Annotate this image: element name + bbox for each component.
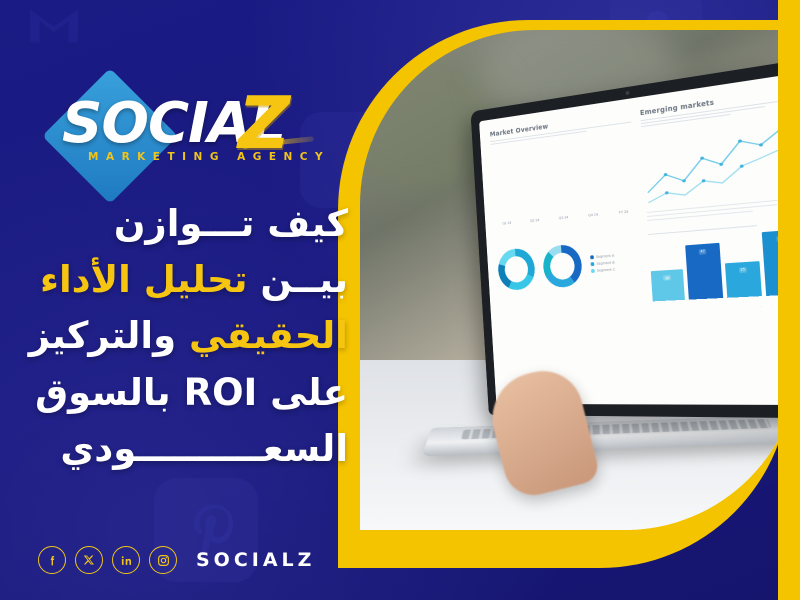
laptop-device: Market Overview Q1 24 Q2 24 Q3 xyxy=(456,86,800,416)
laptop-photo: Market Overview Q1 24 Q2 24 Q3 xyxy=(360,30,800,530)
instagram-icon[interactable] xyxy=(149,546,177,574)
line-chart-emerging-markets xyxy=(641,113,796,207)
headline-line-2: بيــن تحليل الأداء xyxy=(30,252,348,308)
bar-label: Q4 24 xyxy=(580,212,606,220)
headline-text: والتركيز xyxy=(29,314,189,357)
donut-legend: Segment A Segment B Segment C xyxy=(590,254,615,273)
linkedin-icon[interactable] xyxy=(112,546,140,574)
logo-wordmark: SOCIAL xyxy=(62,93,362,155)
headline-text: بيــن xyxy=(248,258,348,301)
footer-brand-name: SOCIALZ xyxy=(196,549,315,571)
legend-label: Segment C xyxy=(597,267,615,272)
donut-chart-1 xyxy=(497,247,536,291)
x-twitter-icon[interactable] xyxy=(75,546,103,574)
headline-line-1: كيف تـــوازن xyxy=(30,196,348,252)
right-yellow-edge xyxy=(778,0,800,600)
headline-line-3: الحقيقي والتركيز xyxy=(30,308,348,364)
headline-line-4: على ROI بالسوق xyxy=(30,365,348,421)
footer-social-bar: SOCIALZ xyxy=(38,546,315,574)
headline-text: على ROI بالسوق xyxy=(35,371,348,414)
bar-tag: 25 xyxy=(739,267,747,273)
marketing-poster: SOCIAL Z MARKETING AGENCY Market Overvie… xyxy=(0,0,800,600)
facebook-icon[interactable] xyxy=(38,546,66,574)
analytics-dashboard: Market Overview Q1 24 Q2 24 Q3 xyxy=(479,73,800,405)
headline-highlight: تحليل الأداء xyxy=(40,258,248,301)
webcam-dot xyxy=(625,91,629,96)
logo-accent-letter: Z xyxy=(238,87,290,159)
donut-chart-2 xyxy=(542,244,583,289)
headline-text: السعــــــــــودي xyxy=(60,427,348,470)
bar-chart-market-overview xyxy=(491,129,637,220)
legend-label: Segment B xyxy=(596,261,614,266)
legend-label: Segment A xyxy=(596,254,614,259)
bar-label: Q1 24 xyxy=(495,220,519,227)
logo-tagline: MARKETING AGENCY xyxy=(88,151,330,163)
headline-text: كيف تـــوازن xyxy=(114,202,348,245)
bar-tag: 38 xyxy=(663,275,670,280)
bar-label: Q2 24 xyxy=(523,217,547,224)
headline-block: كيف تـــوازن بيــن تحليل الأداء الحقيقي … xyxy=(30,196,348,477)
bar-label: Q3 24 xyxy=(551,215,576,222)
brand-logo: SOCIAL Z MARKETING AGENCY xyxy=(62,93,362,179)
bar-label: FY 24 xyxy=(610,209,637,217)
headline-line-5: السعــــــــــودي xyxy=(30,421,348,477)
bar-tag: 47 xyxy=(699,249,707,255)
donut-charts: Segment A Segment B Segment C xyxy=(497,239,642,291)
gmail-watermark-icon xyxy=(22,0,86,56)
headline-highlight: الحقيقي xyxy=(189,314,348,357)
